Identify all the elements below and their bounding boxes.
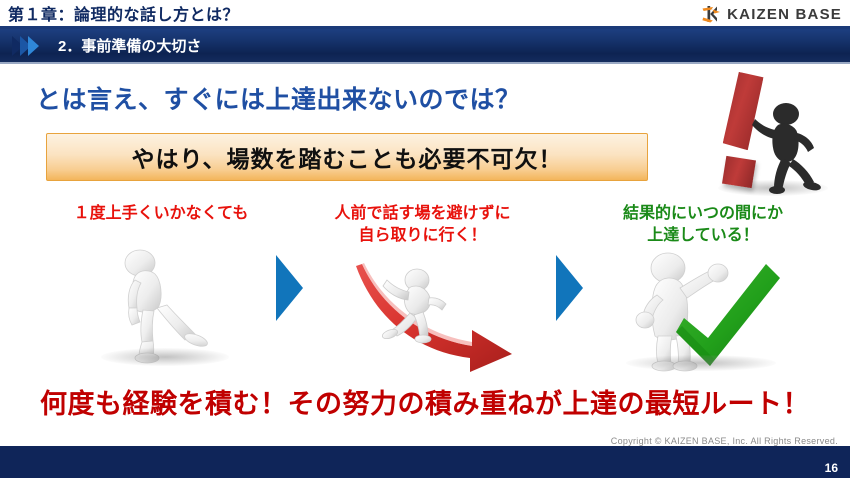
column-caption-2-line-1: 人前で話す場を避けずに bbox=[300, 203, 545, 225]
figure-with-green-checkmark-icon bbox=[618, 240, 793, 372]
blue-right-triangle-arrow-icon-1 bbox=[276, 255, 303, 321]
triple-chevron-right-icon bbox=[12, 36, 36, 56]
section-underline-rule bbox=[0, 62, 850, 64]
column-caption-1: １度上手くいかなくても bbox=[36, 203, 286, 225]
column-caption-2-line-2: 自ら取りに行く！ bbox=[300, 225, 545, 247]
page-number: 16 bbox=[825, 461, 838, 475]
kaizen-k-arrow-logo-icon bbox=[700, 3, 722, 25]
dejected-walking-figure-icon bbox=[95, 248, 235, 368]
section-bar bbox=[0, 29, 850, 62]
figure-running-down-red-arrow-icon bbox=[352, 250, 527, 372]
callout-box: やはり、場数を踏むことも必要不可欠！ bbox=[46, 133, 648, 181]
chapter-title-text: 第１章：論理的な話し方とは？ bbox=[8, 1, 239, 25]
callout-text: やはり、場数を踏むことも必要不可欠！ bbox=[131, 140, 562, 174]
column-caption-3-line-1: 結果的にいつの間にか bbox=[578, 203, 828, 225]
slide-canvas: 第１章：論理的な話し方とは？ KAIZEN BASE 2．事前準備の大切さ とは… bbox=[0, 0, 850, 478]
copyright-text: Copyright © KAIZEN BASE, Inc. All Rights… bbox=[611, 436, 838, 446]
brand-logo: KAIZEN BASE bbox=[700, 3, 842, 25]
footer-bar bbox=[0, 446, 850, 478]
column-caption-1-line-1: １度上手くいかなくても bbox=[36, 203, 286, 225]
figure-leaning-on-red-exclamation-icon bbox=[700, 68, 840, 196]
column-caption-2: 人前で話す場を避けずに 自ら取りに行く！ bbox=[300, 203, 545, 246]
brand-name-text: KAIZEN BASE bbox=[727, 6, 842, 23]
blue-right-triangle-arrow-icon-2 bbox=[556, 255, 583, 321]
bottom-slogan: 何度も経験を積む！その努力の積み重ねが上達の最短ルート！ bbox=[0, 382, 850, 421]
lead-heading: とは言え、すぐには上達出来ないのでは？ bbox=[36, 80, 521, 116]
